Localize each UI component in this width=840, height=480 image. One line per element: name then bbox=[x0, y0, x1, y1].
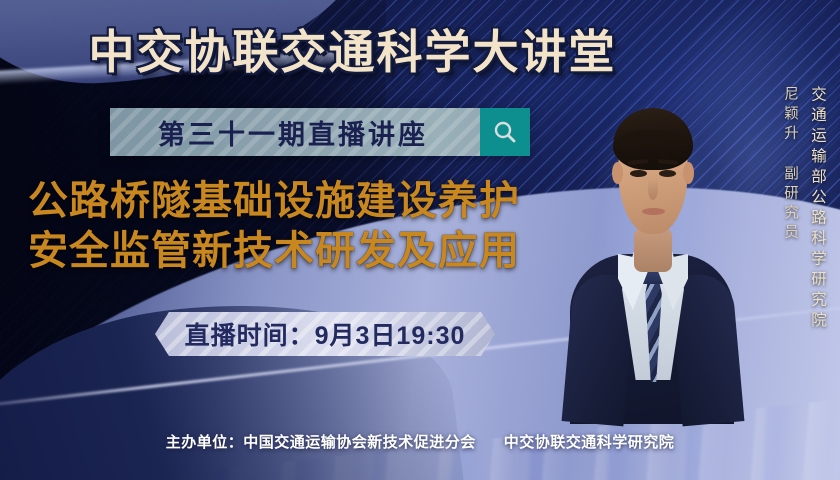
portrait-ear-right bbox=[683, 162, 694, 184]
portrait-mouth bbox=[642, 208, 665, 215]
search-icon bbox=[492, 119, 518, 145]
portrait-eye-right bbox=[659, 170, 676, 177]
page-title: 中交协联交通科学大讲堂 bbox=[0, 16, 705, 82]
broadcast-time-bar: 直播时间：9月3日19:30 bbox=[155, 312, 495, 356]
speaker-name-title: 尼颖升 副研究员 bbox=[781, 86, 797, 332]
speaker-portrait bbox=[578, 78, 726, 408]
search-button[interactable] bbox=[480, 108, 530, 156]
episode-label: 第三十一期直播讲座 bbox=[110, 108, 480, 156]
broadcast-time-text: 直播时间：9月3日19:30 bbox=[185, 316, 466, 352]
footer: 主办单位：中国交通运输协会新技术促进分会 中交协联交通科学研究院 bbox=[0, 431, 840, 452]
live-stream-poster: 中交协联交通科学大讲堂 第三十一期直播讲座 公路桥隧基础设施建设养护 安全监管新… bbox=[0, 0, 840, 480]
speaker-info: 尼颖升 副研究员 交通运输部公路科学研究院 bbox=[781, 86, 826, 332]
portrait-hair-fringe bbox=[614, 130, 692, 154]
portrait-neck bbox=[634, 228, 672, 272]
episode-band: 第三十一期直播讲座 bbox=[110, 108, 530, 156]
lecture-title-line-1: 公路桥隧基础设施建设养护 bbox=[28, 176, 588, 226]
portrait-eye-left bbox=[630, 170, 647, 177]
speaker-organization: 交通运输部公路科学研究院 bbox=[809, 86, 826, 332]
portrait-ear-left bbox=[612, 162, 623, 184]
lecture-title-line-2: 安全监管新技术研发及应用 bbox=[28, 226, 588, 276]
footer-organizer: 主办单位：中国交通运输协会新技术促进分会 bbox=[166, 431, 476, 452]
portrait-nose bbox=[648, 178, 658, 200]
lecture-title: 公路桥隧基础设施建设养护 安全监管新技术研发及应用 bbox=[28, 176, 588, 276]
footer-co-organizer: 中交协联交通科学研究院 bbox=[504, 431, 675, 452]
